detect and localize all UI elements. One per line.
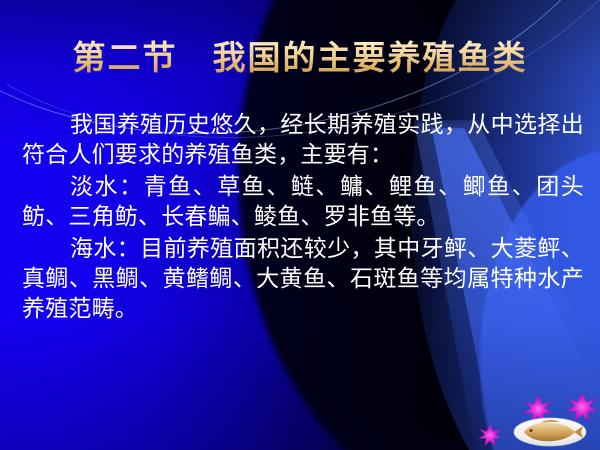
decoration-cluster bbox=[462, 392, 600, 450]
body-paragraph-1: 我国养殖历史悠久，经长期养殖实践，从中选择出符合人们要求的养殖鱼类，主要有： bbox=[22, 110, 584, 170]
presentation-slide: 第二节 我国的主要养殖鱼类 我国养殖历史悠久，经长期养殖实践，从中选择出符合人们… bbox=[0, 0, 600, 450]
slide-body: 我国养殖历史悠久，经长期养殖实践，从中选择出符合人们要求的养殖鱼类，主要有： 淡… bbox=[22, 110, 584, 326]
body-paragraph-2: 淡水：青鱼、草鱼、鲢、鳙、鲤鱼、鲫鱼、团头鲂、三角鲂、长春鳊、鲮鱼、罗非鱼等。 bbox=[22, 172, 584, 232]
star-burst-icon bbox=[566, 392, 598, 422]
fish-on-plate-icon bbox=[514, 418, 586, 446]
slide-title: 第二节 我国的主要养殖鱼类 bbox=[0, 38, 600, 78]
body-paragraph-3: 海水：目前养殖面积还较少，其中牙鲆、大菱鲆、真鲷、黑鲷、黄鳍鲷、大黄鱼、石斑鱼等… bbox=[22, 234, 584, 324]
star-burst-icon bbox=[478, 424, 502, 447]
